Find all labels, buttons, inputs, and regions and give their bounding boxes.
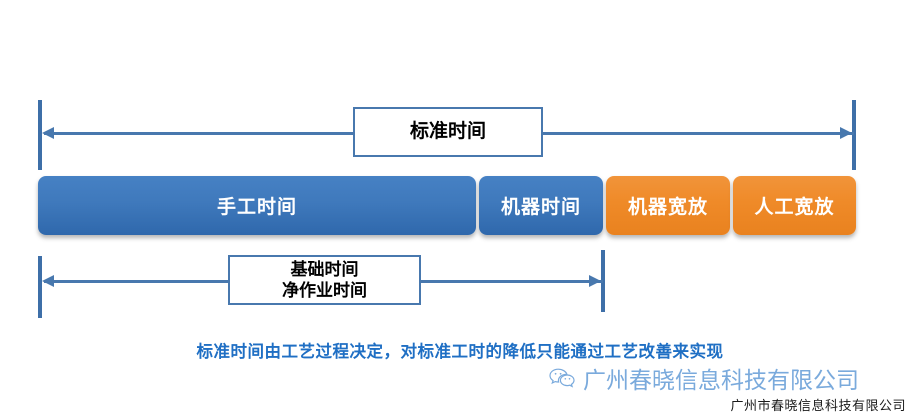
segment-machine-allowance[interactable]: 机器宽放: [606, 176, 730, 235]
segment-manual-allowance-label: 人工宽放: [754, 192, 834, 219]
top-span-left-arrowhead-icon: [42, 127, 54, 139]
bottom-span-left-endcap: [38, 256, 42, 318]
top-span-left-line: [44, 132, 353, 135]
top-span-right-line: [543, 132, 854, 135]
basic-time-label-box: 基础时间 净作业时间: [228, 255, 421, 305]
watermark-text: 广州春晓信息科技有限公司: [583, 361, 859, 395]
segment-manual-time-label: 手工时间: [217, 192, 297, 219]
bottom-span-right-line: [421, 280, 603, 283]
caption-text: 标准时间由工艺过程决定，对标准工时的降低只能通过工艺改善来实现: [0, 338, 920, 362]
segment-manual-allowance[interactable]: 人工宽放: [733, 176, 856, 235]
segment-manual-time[interactable]: 手工时间: [38, 176, 476, 235]
bottom-span-right-arrowhead-icon: [589, 275, 601, 287]
basic-time-label-line2: 净作业时间: [282, 281, 367, 300]
wechat-icon: [548, 367, 576, 389]
bottom-span-left-line: [44, 280, 228, 283]
segment-machine-time-label: 机器时间: [501, 192, 581, 219]
bottom-span-left-arrowhead-icon: [42, 275, 54, 287]
top-span-right-endcap: [852, 100, 856, 170]
basic-time-label-line1: 基础时间: [291, 260, 359, 279]
top-span-right-arrowhead-icon: [840, 127, 852, 139]
segment-machine-allowance-label: 机器宽放: [628, 192, 708, 219]
standard-time-label-box: 标准时间: [353, 107, 543, 157]
segment-machine-time[interactable]: 机器时间: [479, 176, 603, 235]
diagram-canvas: 标准时间 手工时间 机器时间 机器宽放 人工宽放 基础时间 净作业时间 标准时间…: [0, 0, 920, 419]
standard-time-label: 标准时间: [410, 121, 486, 142]
watermark: 广州春晓信息科技有限公司: [548, 361, 859, 395]
time-composition-bar: 手工时间 机器时间 机器宽放 人工宽放: [38, 176, 856, 235]
footer-company-name: 广州市春晓信息科技有限公司: [730, 395, 906, 414]
